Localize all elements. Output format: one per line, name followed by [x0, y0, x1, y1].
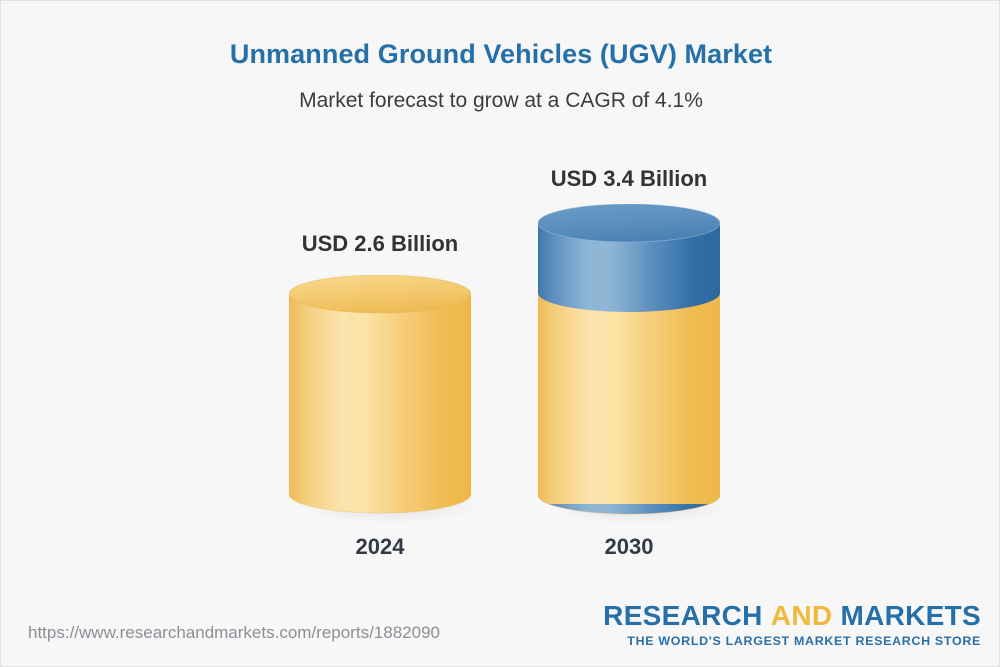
bar-value-label-2024: USD 2.6 Billion	[230, 231, 530, 257]
brand-logo[interactable]: RESEARCH AND MARKETS THE WORLD'S LARGEST…	[603, 602, 981, 648]
chart-plot-area: USD 2.6 Billion	[1, 1, 1000, 601]
infographic-canvas: Unmanned Ground Vehicles (UGV) Market Ma…	[0, 0, 1000, 667]
cylinder-2030[interactable]	[538, 204, 720, 526]
brand-word-and: AND	[771, 600, 833, 631]
cylinder-2024-shape	[289, 275, 471, 525]
brand-tagline: THE WORLD'S LARGEST MARKET RESEARCH STOR…	[603, 634, 981, 648]
cylinder-2024[interactable]	[289, 275, 471, 525]
brand-space-1	[763, 600, 771, 631]
bar-value-label-2030: USD 3.4 Billion	[479, 166, 779, 192]
bar-category-label-2024: 2024	[289, 534, 471, 560]
brand-word-research: RESEARCH	[603, 600, 763, 631]
report-url-link[interactable]: https://www.researchandmarkets.com/repor…	[28, 623, 440, 643]
bar-category-label-2030: 2030	[538, 534, 720, 560]
cylinder-2030-shape	[538, 204, 720, 526]
brand-word-markets: MARKETS	[840, 600, 981, 631]
brand-wordmark: RESEARCH AND MARKETS	[603, 602, 981, 631]
